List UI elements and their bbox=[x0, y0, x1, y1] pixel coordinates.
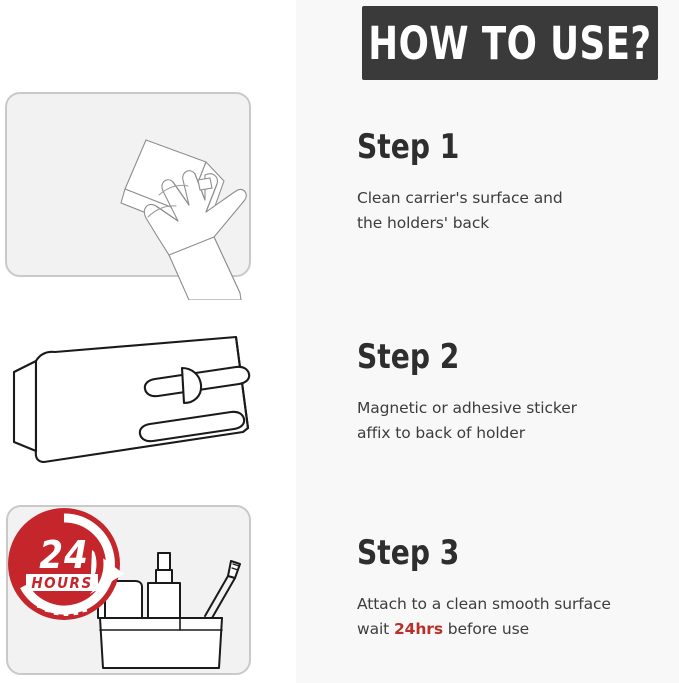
cloth-corner-tab bbox=[198, 178, 212, 190]
step-1-body-line-1: Clean carrier's surface and bbox=[357, 189, 563, 207]
holder-front-face bbox=[36, 337, 248, 462]
spray-bottle-neck bbox=[156, 570, 172, 583]
how-to-use-banner: HOW TO USE? bbox=[362, 6, 658, 80]
step-2-body-line-1: Magnetic or adhesive sticker bbox=[357, 399, 577, 417]
step-3-body-line-1: Attach to a clean smooth surface bbox=[357, 595, 611, 613]
step-3-text: Step 3 Attach to a clean smooth surface … bbox=[357, 536, 677, 642]
step-2-heading: Step 2 bbox=[357, 340, 651, 374]
step-3-heading: Step 3 bbox=[357, 536, 651, 570]
hand-and-cloth-drawing bbox=[0, 85, 296, 300]
step-3-body: Attach to a clean smooth surface wait 24… bbox=[357, 592, 677, 642]
step-3-body-line-2-suffix: before use bbox=[443, 620, 529, 638]
illustration-step-3: 24 HOURS bbox=[0, 498, 296, 683]
step-1-heading: Step 1 bbox=[357, 130, 651, 164]
page-title: HOW TO USE? bbox=[368, 21, 651, 66]
organizer-tray bbox=[100, 618, 222, 668]
badge-number: 24 bbox=[39, 533, 89, 577]
step-1-text: Step 1 Clean carrier's surface and the h… bbox=[357, 130, 677, 236]
twentyfour-hours-and-organizer-drawing: 24 HOURS bbox=[0, 498, 296, 683]
step-3-body-line-2-prefix: wait bbox=[357, 620, 394, 638]
holder-side-face bbox=[14, 361, 36, 451]
page-root: HOW TO USE? bbox=[0, 0, 679, 683]
toothbrush bbox=[205, 561, 240, 618]
step-2-body-line-2: affix to back of holder bbox=[357, 424, 525, 442]
step-1-body-line-2: the holders' back bbox=[357, 214, 489, 232]
spray-bottle-body bbox=[148, 583, 180, 618]
step-2-text: Step 2 Magnetic or adhesive sticker affi… bbox=[357, 340, 677, 446]
wait-duration-highlight: 24hrs bbox=[394, 620, 443, 638]
illustration-step-1 bbox=[0, 85, 296, 300]
badge-unit: HOURS bbox=[31, 574, 92, 592]
step-1-body: Clean carrier's surface and the holders'… bbox=[357, 186, 677, 236]
spray-bottle-cap bbox=[158, 553, 170, 570]
illustration-step-2 bbox=[0, 320, 296, 485]
step-2-body: Magnetic or adhesive sticker affix to ba… bbox=[357, 396, 677, 446]
holder-back-drawing bbox=[0, 320, 296, 485]
